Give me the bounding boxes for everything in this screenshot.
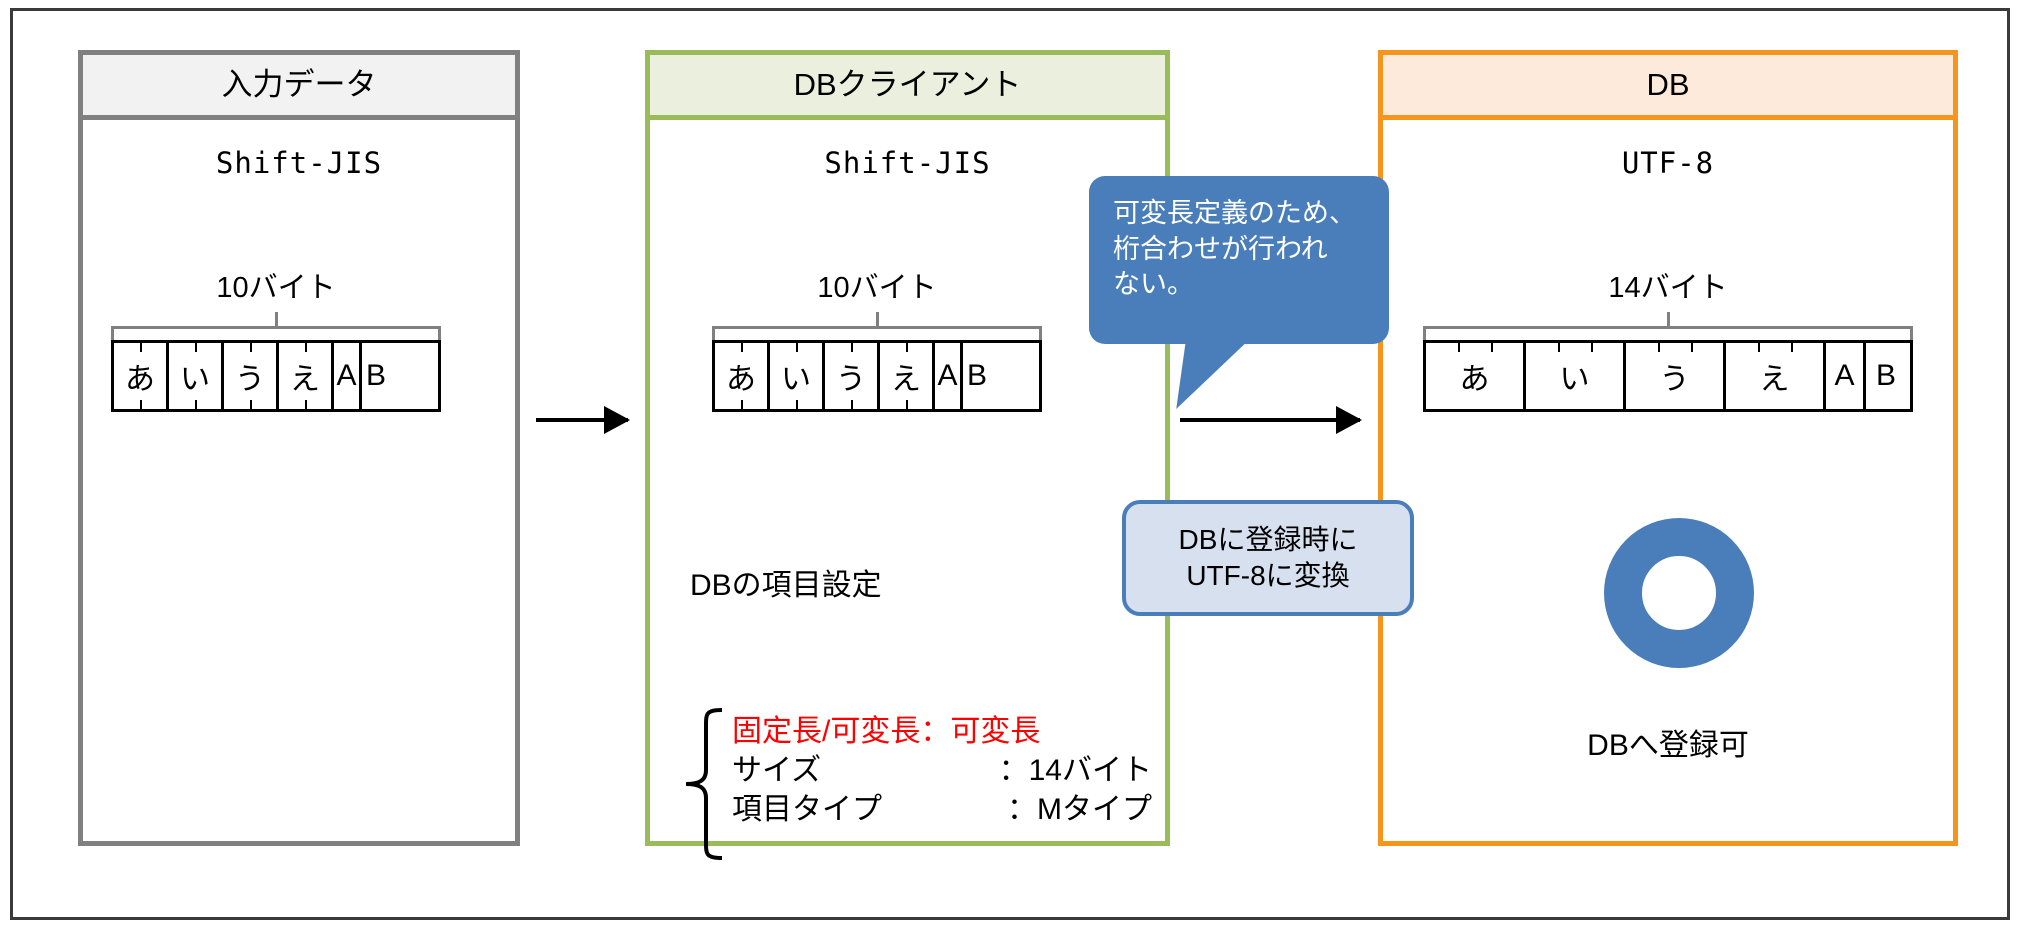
byte-cell: B bbox=[362, 343, 390, 409]
settings-row-sep: ： bbox=[999, 754, 1029, 787]
byte-cell-text: い bbox=[180, 354, 210, 398]
byte-cell-text: あ bbox=[1460, 354, 1490, 398]
bracket-bar-icon bbox=[111, 326, 441, 340]
panel-db-client-header: DBクライアント bbox=[650, 55, 1165, 120]
byte-cells-client: あ い う え A bbox=[712, 340, 1042, 412]
settings-row-key: サイズ bbox=[732, 751, 821, 790]
byte-cell: あ bbox=[114, 343, 169, 409]
byte-cell: B bbox=[963, 343, 991, 409]
settings-row-value: 14バイト bbox=[1029, 754, 1152, 787]
byte-cell: え bbox=[279, 343, 334, 409]
byte-cell-text: い bbox=[781, 354, 811, 398]
byte-label-client: 10バイト bbox=[712, 264, 1042, 306]
byte-bracket-input bbox=[111, 312, 441, 340]
byte-bracket-client bbox=[712, 312, 1042, 340]
byte-cell-text: う bbox=[1660, 354, 1690, 398]
byte-cell-text: A bbox=[937, 359, 957, 393]
byte-cells-db: あ い う え A bbox=[1423, 340, 1913, 412]
settings-row-sep: ： bbox=[1007, 793, 1037, 826]
byte-cell-text: う bbox=[836, 354, 866, 398]
callout-tail-icon bbox=[1176, 341, 1248, 409]
byte-cell: う bbox=[224, 343, 279, 409]
callout-line: ない。 bbox=[1113, 267, 1367, 303]
byte-cell: A bbox=[1826, 343, 1866, 409]
byte-cell: A bbox=[935, 343, 963, 409]
panel-db-client-body: Shift-JIS 10バイト あ い bbox=[650, 120, 1165, 180]
callout-line: DBに登録時に bbox=[1179, 522, 1358, 558]
panel-input-data-body: Shift-JIS 10バイト あ い bbox=[83, 120, 515, 180]
arrow-client-to-db bbox=[1180, 418, 1360, 422]
byte-label-db: 14バイト bbox=[1423, 264, 1913, 306]
byte-cell: B bbox=[1866, 343, 1906, 409]
panel-db-header: DB bbox=[1383, 55, 1953, 120]
byte-cell-text: B bbox=[967, 359, 987, 393]
callout-line: 桁合わせが行われ bbox=[1113, 232, 1367, 268]
byte-cell-text: A bbox=[336, 359, 356, 393]
byte-group-client: 10バイト あ い う bbox=[712, 264, 1042, 412]
circle-ok-icon bbox=[1604, 518, 1754, 668]
bracket-stem-icon bbox=[275, 312, 278, 327]
bracket-stem-icon bbox=[876, 312, 879, 327]
byte-cell-text: B bbox=[1876, 359, 1896, 393]
byte-cell: あ bbox=[715, 343, 770, 409]
byte-cell: う bbox=[825, 343, 880, 409]
callout-line: 可変長定義のため、 bbox=[1113, 196, 1367, 232]
byte-cell: A bbox=[334, 343, 362, 409]
panel-input-data: 入力データ Shift-JIS 10バイト あ い bbox=[78, 50, 520, 846]
settings-row-value: Mタイプ bbox=[1037, 793, 1152, 826]
byte-cell-text: い bbox=[1560, 354, 1590, 398]
callout-convert: DBに登録時に UTF-8に変換 bbox=[1122, 500, 1414, 616]
byte-label-input: 10バイト bbox=[111, 264, 441, 306]
settings-row-key: 固定長/可変長 bbox=[732, 712, 920, 751]
byte-cells-input: あ い う え A bbox=[111, 340, 441, 412]
settings-row-value: 可変長 bbox=[950, 712, 1040, 751]
byte-cell: う bbox=[1626, 343, 1726, 409]
callout-line: UTF-8に変換 bbox=[1186, 558, 1349, 594]
byte-cell-text: あ bbox=[125, 354, 155, 398]
bracket-bar-icon bbox=[712, 326, 1042, 340]
byte-cell: え bbox=[880, 343, 935, 409]
settings-row-key: 項目タイプ bbox=[732, 790, 882, 829]
settings-row-value-group: ：Mタイプ bbox=[1007, 790, 1152, 829]
encoding-label-db: UTF-8 bbox=[1383, 120, 1953, 180]
byte-bracket-db bbox=[1423, 312, 1913, 340]
settings-row: サイズ ：14バイト bbox=[732, 751, 1152, 790]
panel-db-body: UTF-8 14バイト あ い bbox=[1383, 120, 1953, 180]
db-status-label: DBへ登録可 bbox=[1378, 720, 1958, 764]
byte-cell-text: A bbox=[1834, 359, 1854, 393]
byte-cell-text: え bbox=[1760, 354, 1790, 398]
arrow-input-to-client bbox=[536, 418, 628, 422]
bracket-stem-icon bbox=[1667, 312, 1670, 327]
byte-cell: あ bbox=[1426, 343, 1526, 409]
byte-cell-text: う bbox=[235, 354, 265, 398]
byte-cell: え bbox=[1726, 343, 1826, 409]
encoding-label-client: Shift-JIS bbox=[650, 120, 1165, 180]
byte-cell-text: あ bbox=[726, 354, 756, 398]
byte-cell-text: B bbox=[366, 359, 386, 393]
settings-rows: 固定長/可変長 ： 可変長 サイズ ：14バイト 項目タイプ ：Mタイプ bbox=[732, 712, 1152, 829]
settings-row: 項目タイプ ：Mタイプ bbox=[732, 790, 1152, 829]
byte-group-input: 10バイト あ い う bbox=[111, 264, 441, 412]
curly-brace-icon bbox=[680, 706, 726, 862]
byte-cell-text: え bbox=[891, 354, 921, 398]
settings-row: 固定長/可変長 ： 可変長 bbox=[732, 712, 1152, 751]
byte-cell-text: え bbox=[290, 354, 320, 398]
byte-cell: い bbox=[1526, 343, 1626, 409]
settings-title: DBの項目設定 bbox=[690, 560, 882, 604]
byte-group-db: 14バイト あ い う bbox=[1423, 264, 1913, 412]
diagram-canvas: 入力データ Shift-JIS 10バイト あ い bbox=[0, 0, 2025, 938]
byte-cell: い bbox=[770, 343, 825, 409]
callout-variable-length: 可変長定義のため、 桁合わせが行われ ない。 bbox=[1089, 176, 1389, 344]
encoding-label-input: Shift-JIS bbox=[83, 120, 515, 180]
byte-cell: い bbox=[169, 343, 224, 409]
settings-row-sep: ： bbox=[920, 712, 950, 751]
bracket-bar-icon bbox=[1423, 326, 1913, 340]
panel-input-data-header: 入力データ bbox=[83, 55, 515, 120]
settings-row-value-group: ：14バイト bbox=[999, 751, 1152, 790]
